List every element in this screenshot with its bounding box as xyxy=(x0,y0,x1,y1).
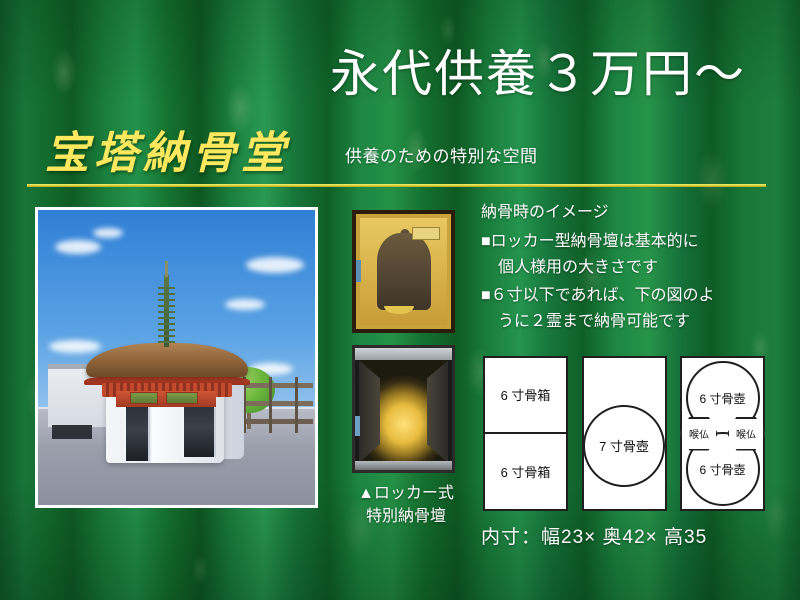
locker-arch-shape xyxy=(377,233,431,310)
locker-caption-line-2: 特別納骨壇 xyxy=(336,505,476,528)
locker-door-photo xyxy=(352,210,455,333)
diagram-urn-7sun: 7 寸骨壺 xyxy=(583,405,665,487)
page-headline: 永代供養３万円〜 xyxy=(330,48,780,101)
info-bullet-1-line-1: ■ロッカー型納骨壇は基本的に xyxy=(481,229,781,255)
locker-caption-line-1: ▲ロッカー式 xyxy=(336,482,476,505)
pagoda-spire-tip xyxy=(165,261,168,277)
locker-photo-caption: ▲ロッカー式 特別納骨壇 xyxy=(336,482,476,528)
wall-opening xyxy=(52,425,92,439)
pagoda-window-right xyxy=(166,392,198,404)
pagoda-window-left xyxy=(130,392,158,404)
diagram-box-bottom: 6 寸骨箱 xyxy=(485,434,566,510)
info-lead-line: 納骨時のイメージ xyxy=(481,200,781,226)
poster-root: 永代供養３万円〜 供養のための特別な空間 宝塔納骨堂 xyxy=(0,0,800,600)
diagram-panel-two-boxes: 6 寸骨箱 6 寸骨箱 xyxy=(483,356,568,511)
locker-nameplate xyxy=(412,227,440,241)
pagoda-spire-rings xyxy=(158,287,175,343)
page-subheadline: 供養のための特別な空間 xyxy=(345,142,538,167)
locker-offering-bowl xyxy=(384,306,414,315)
capacity-diagram: 6 寸骨箱 6 寸骨箱 7 寸骨壺 6 寸骨壺 喉仏 喉仏 6 寸骨壺 xyxy=(483,356,765,511)
locker-interior-photo xyxy=(352,345,455,473)
locker-top-surface xyxy=(355,348,452,360)
diagram-box-top: 6 寸骨箱 xyxy=(485,358,566,434)
locker-floor xyxy=(355,461,452,470)
diagram-panel-single-urn: 7 寸骨壺 xyxy=(582,356,667,511)
cloud-icon xyxy=(49,340,101,353)
info-bullet-1-line-2: 個人様用の大きさです xyxy=(481,255,781,281)
diagram-panel-two-urns: 6 寸骨壺 喉仏 喉仏 6 寸骨壺 xyxy=(680,356,765,511)
header-divider xyxy=(27,184,766,187)
pagoda-exterior-photo xyxy=(35,207,318,508)
cloud-icon xyxy=(225,299,265,310)
locker-door-panel xyxy=(360,218,447,325)
cloud-icon xyxy=(93,228,123,238)
cloud-icon xyxy=(55,240,101,254)
brand-title: 宝塔納骨堂 xyxy=(45,117,290,181)
internal-dimensions-text: 内寸：幅23× 奥42× 高35 xyxy=(481,522,707,549)
locker-interior-handle xyxy=(354,416,360,436)
info-text-block: 納骨時のイメージ ■ロッカー型納骨壇は基本的に 個人様用の大きさです ■６寸以下… xyxy=(481,200,781,335)
info-bullet-2-line-2: うに２霊まで納骨可能です xyxy=(481,309,781,335)
locker-door-handle xyxy=(355,260,361,282)
info-bullet-2-line-1: ■６寸以下であれば、下の図のよ xyxy=(481,283,781,309)
